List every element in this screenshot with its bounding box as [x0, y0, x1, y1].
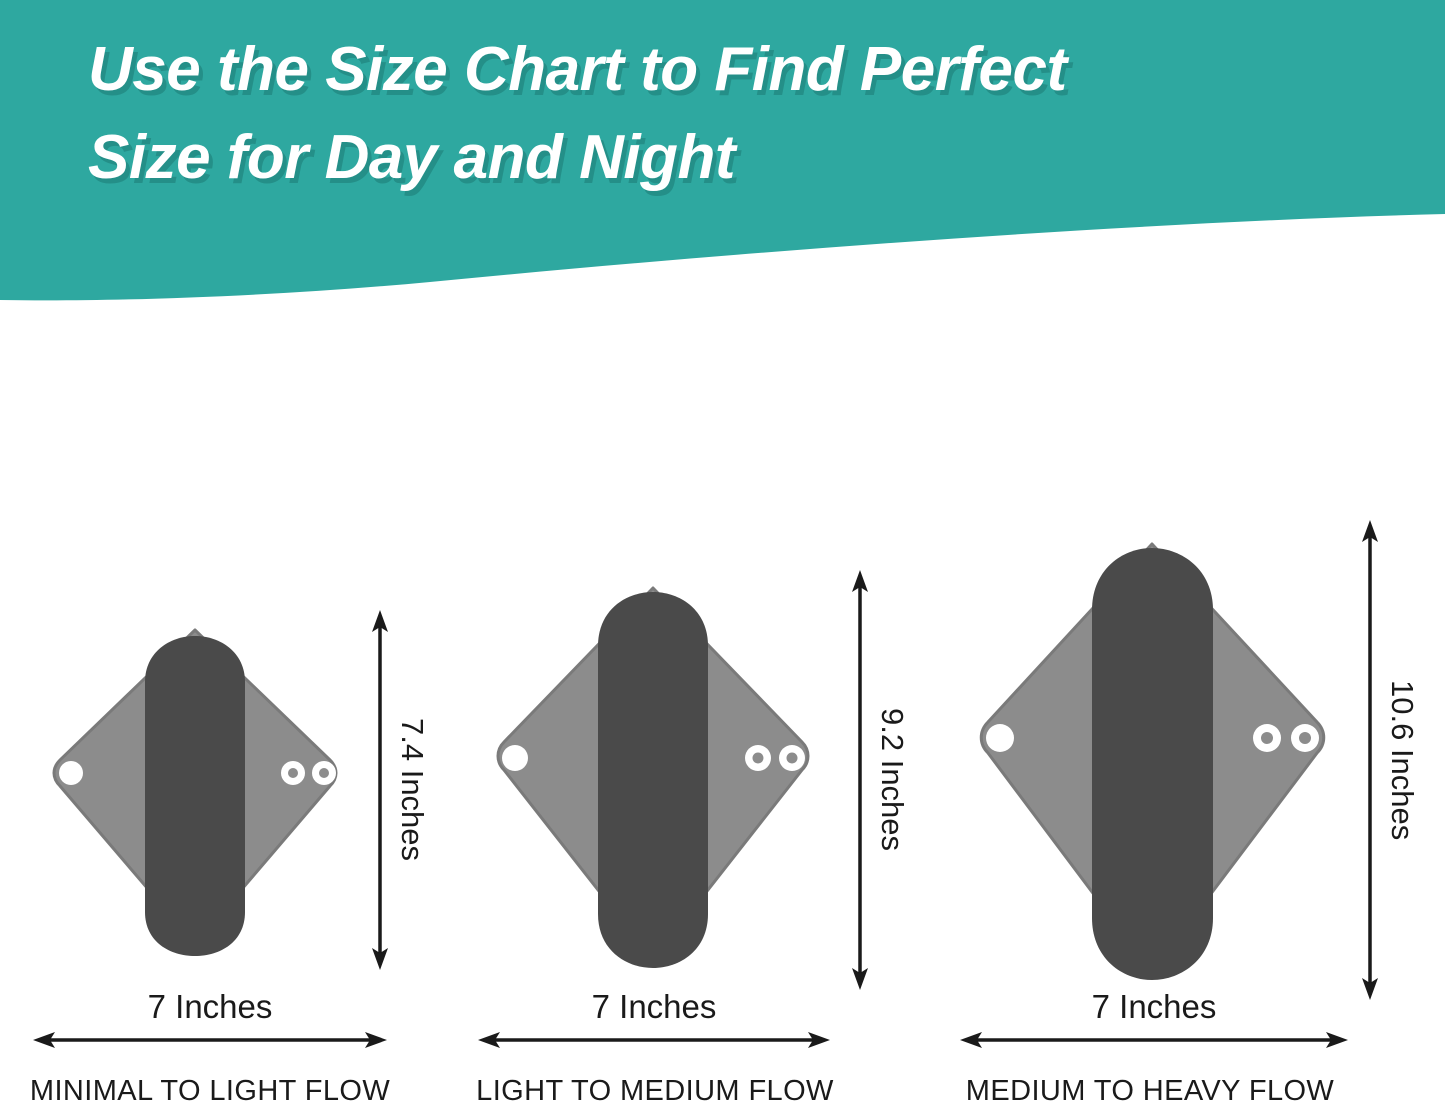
height-label-large: 10.6 Inches — [1384, 520, 1420, 1000]
snap-left-1 — [986, 724, 1014, 752]
pad-shape-large — [960, 520, 1345, 1002]
width-label-medium: 7 Inches — [478, 988, 830, 1026]
width-label-large: 7 Inches — [960, 988, 1348, 1026]
width-arrow-medium — [478, 1028, 830, 1052]
header-banner: Use the Size Chart to Find Perfect Size … — [0, 0, 1445, 320]
pad-card-minimal-to-light: 7.4 Inches 7 Inches MINIMAL TO LIGHT FLO… — [10, 470, 440, 1116]
width-arrow-large — [960, 1028, 1348, 1052]
size-chart-infographic: Use the Size Chart to Find Perfect Size … — [0, 0, 1445, 1116]
height-arrow-small — [368, 610, 392, 970]
width-dimension-small: 7 Inches — [33, 988, 387, 1058]
pad-shape-medium — [478, 566, 828, 986]
height-arrow-medium — [848, 570, 872, 990]
pad-shape-small — [35, 612, 355, 967]
snap-right-2 — [779, 745, 805, 771]
pad-illustration-medium — [478, 566, 828, 986]
snap-left-1 — [59, 761, 83, 785]
pad-card-light-to-medium: 9.2 Inches 7 Inches LIGHT TO MEDIUM FLOW — [460, 470, 920, 1116]
height-arrow-large — [1358, 520, 1382, 1000]
snap-right-1 — [1253, 724, 1281, 752]
pads-row: 7.4 Inches 7 Inches MINIMAL TO LIGHT FLO… — [0, 470, 1445, 1116]
snap-left-1 — [502, 745, 528, 771]
flow-caption-small: MINIMAL TO LIGHT FLOW — [10, 1075, 410, 1108]
snap-right-2 — [312, 761, 336, 785]
pad-illustration-small — [35, 612, 355, 967]
height-dimension-medium-inner: 9.2 Inches — [848, 570, 918, 990]
flow-caption-large: MEDIUM TO HEAVY FLOW — [950, 1075, 1350, 1108]
snap-right-2 — [1291, 724, 1319, 752]
flow-caption-medium: LIGHT TO MEDIUM FLOW — [460, 1075, 850, 1108]
pad-illustration-large — [960, 520, 1345, 1002]
snap-right-1 — [745, 745, 771, 771]
width-label-small: 7 Inches — [33, 988, 387, 1026]
height-dimension-large: 10.6 Inches — [1358, 520, 1428, 1000]
height-dimension-small: 7.4 Inches — [368, 610, 438, 970]
pad-card-medium-to-heavy: 10.6 Inches 7 Inches MEDIUM TO HEAVY FLO… — [940, 470, 1445, 1116]
height-label-small: 7.4 Inches — [394, 610, 430, 970]
snap-right-1 — [281, 761, 305, 785]
height-label-medium: 9.2 Inches — [874, 570, 910, 990]
width-dimension-large: 7 Inches — [960, 988, 1348, 1058]
width-arrow-small — [33, 1028, 387, 1052]
page-title: Use the Size Chart to Find Perfect Size … — [88, 26, 1408, 202]
width-dimension-medium: 7 Inches — [478, 988, 830, 1058]
